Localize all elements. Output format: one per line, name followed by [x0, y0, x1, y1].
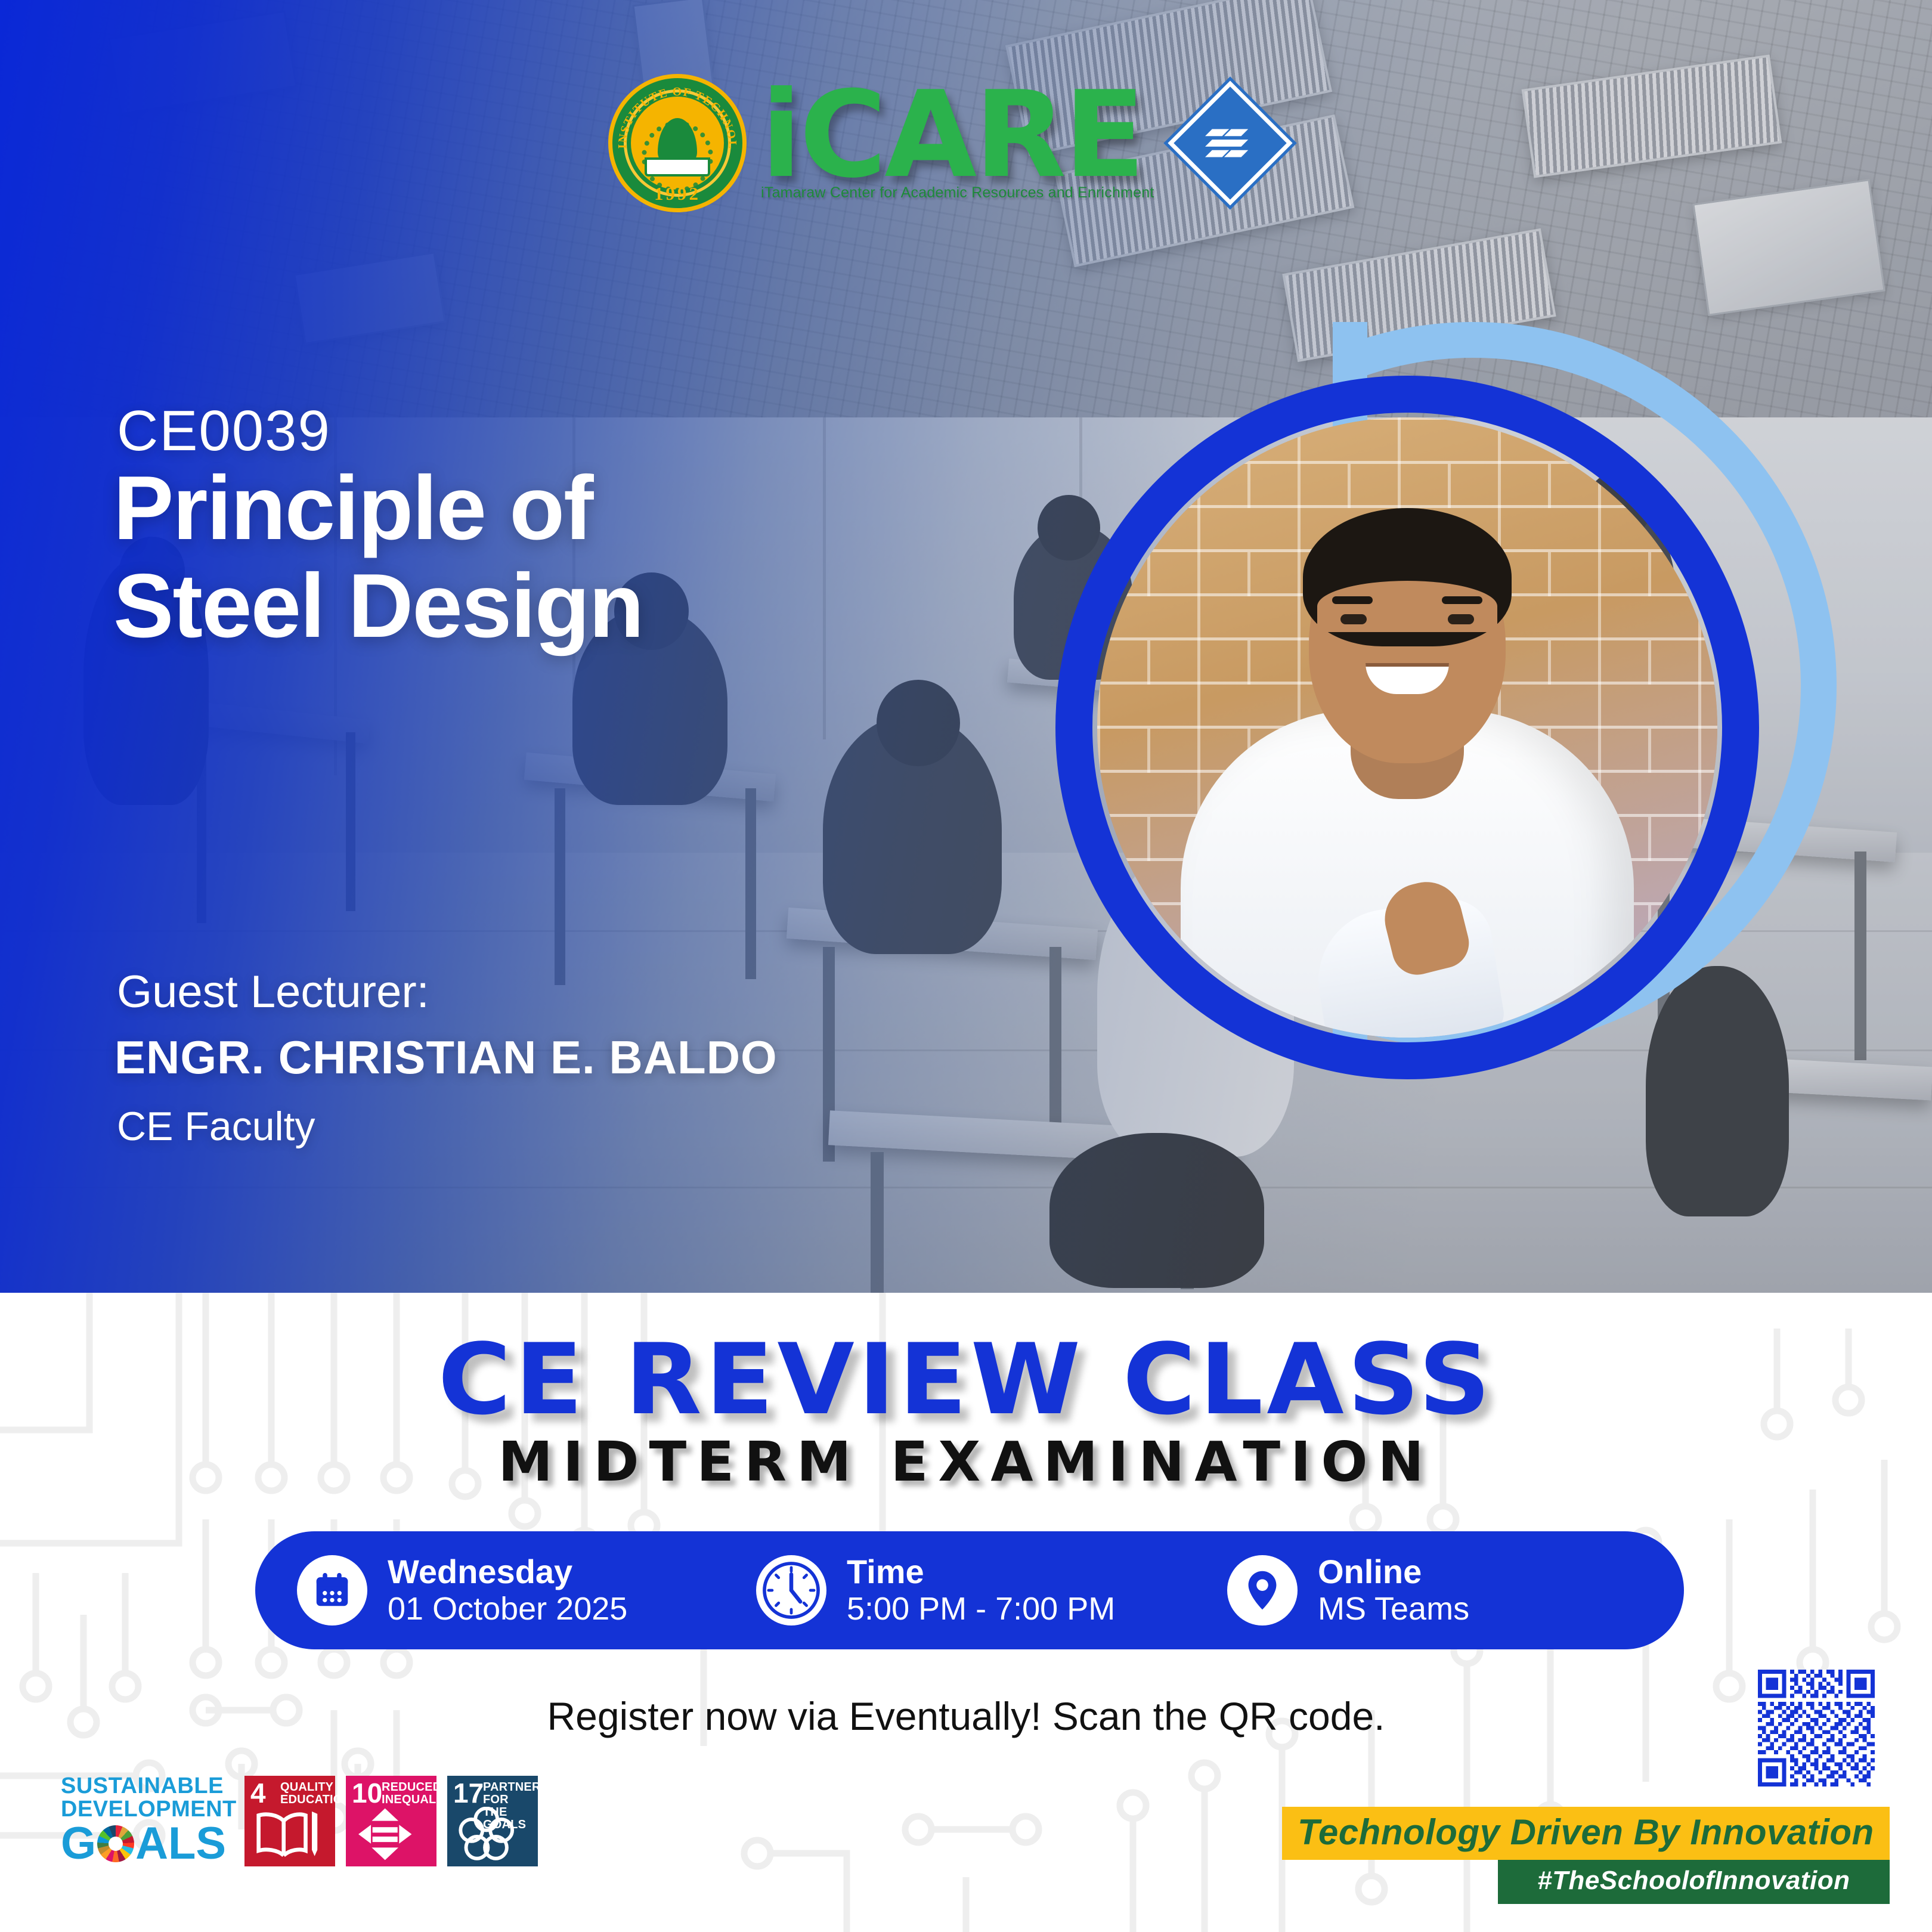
detail-date-title: Wednesday: [388, 1553, 627, 1591]
sdg-goals-g: G: [61, 1821, 96, 1866]
sdg-tile-10-label: REDUCEDINEQUALITIES: [382, 1781, 433, 1806]
sdg-footer: SUSTAINABLE DEVELOPMENT G ALS 4 QUALITYE…: [61, 1775, 538, 1866]
acest-diamond-logo-icon: [1174, 86, 1287, 200]
hero-section: FEU INSTITUTE OF TECHNOLOGY 1992 iCARE i…: [0, 0, 1932, 1293]
sdg-word-line1: SUSTAINABLE: [61, 1775, 234, 1798]
headline-title: CE REVIEW CLASS: [0, 1323, 1932, 1436]
course-title: Principle of Steel Design: [113, 459, 1008, 655]
sdg-tile-10-number: 10: [352, 1779, 382, 1807]
detail-time: Time 5:00 PM - 7:00 PM: [756, 1553, 1227, 1627]
speaker-photo: [1097, 417, 1717, 1038]
course-title-line-1: Principle of: [113, 459, 1008, 557]
interlocking-circles-icon: [447, 1807, 525, 1862]
guest-lecturer-role: CE Faculty: [117, 1103, 315, 1150]
course-title-line-2: Steel Design: [113, 557, 1008, 655]
sdg-tile-17: 17 PARTNERSHIPSFOR THE GOALS: [447, 1776, 538, 1866]
course-code: CE0039: [117, 398, 331, 464]
detail-time-value: 5:00 PM - 7:00 PM: [847, 1591, 1115, 1628]
seal-arc-text: FEU INSTITUTE OF TECHNOLOGY: [608, 74, 739, 150]
headline-subtitle: MIDTERM EXAMINATION: [0, 1430, 1932, 1494]
icare-wordmark: iCARE: [761, 85, 1154, 185]
detail-time-title: Time: [847, 1553, 1115, 1591]
sdg-tile-4-label: QUALITYEDUCATION: [280, 1781, 332, 1806]
sdg-wordmark: SUSTAINABLE DEVELOPMENT G ALS: [61, 1775, 234, 1866]
detail-location: Online MS Teams: [1227, 1553, 1469, 1627]
sdg-color-wheel-icon: [97, 1825, 134, 1862]
location-pin-icon: [1227, 1555, 1298, 1626]
event-poster: FEU INSTITUTE OF TECHNOLOGY 1992 iCARE i…: [0, 0, 1932, 1932]
guest-lecturer-label: Guest Lecturer:: [117, 966, 429, 1018]
tagline-hashtag: #TheSchoolofInnovation: [1498, 1860, 1890, 1904]
sdg-tile-4-number: 4: [250, 1779, 266, 1807]
tagline-primary: Technology Driven By Innovation: [1282, 1807, 1890, 1860]
icare-subtitle: iTamaraw Center for Academic Resources a…: [761, 184, 1154, 202]
school-tagline: Technology Driven By Innovation #TheScho…: [1282, 1807, 1890, 1904]
detail-location-title: Online: [1318, 1553, 1469, 1591]
guest-lecturer-name: ENGR. CHRISTIAN E. BALDO: [114, 1030, 778, 1085]
equals-arrows-icon: [346, 1807, 424, 1862]
sdg-tile-4: 4 QUALITYEDUCATION: [244, 1776, 335, 1866]
sdg-tile-17-number: 17: [453, 1779, 484, 1807]
detail-date: Wednesday 01 October 2025: [297, 1553, 756, 1627]
brand-logo-row: FEU INSTITUTE OF TECHNOLOGY 1992 iCARE i…: [608, 57, 1312, 230]
seal-year: 1992: [608, 183, 747, 205]
event-details-bar: Wednesday 01 October 2025: [255, 1531, 1684, 1649]
register-note: Register now via Eventually! Scan the QR…: [0, 1693, 1932, 1739]
svg-text:FEU INSTITUTE OF TECHNOLOGY: FEU INSTITUTE OF TECHNOLOGY: [608, 74, 739, 150]
sdg-tile-10: 10 REDUCEDINEQUALITIES: [346, 1776, 436, 1866]
speaker-portrait: [1049, 310, 1849, 1109]
sdg-word-line2: DEVELOPMENT: [61, 1798, 234, 1821]
book-and-pencil-icon: [244, 1807, 323, 1862]
calendar-icon: [297, 1555, 367, 1626]
sdg-goals-word: G ALS: [61, 1821, 234, 1866]
detail-location-value: MS Teams: [1318, 1591, 1469, 1628]
sdg-goals-als: ALS: [135, 1821, 226, 1866]
detail-date-value: 01 October 2025: [388, 1591, 627, 1628]
feu-institute-of-technology-seal-icon: FEU INSTITUTE OF TECHNOLOGY 1992: [608, 74, 747, 212]
registration-qr-code[interactable]: [1758, 1670, 1875, 1787]
icare-logo: iCARE iTamaraw Center for Academic Resou…: [761, 85, 1154, 202]
clock-icon: [756, 1555, 826, 1626]
